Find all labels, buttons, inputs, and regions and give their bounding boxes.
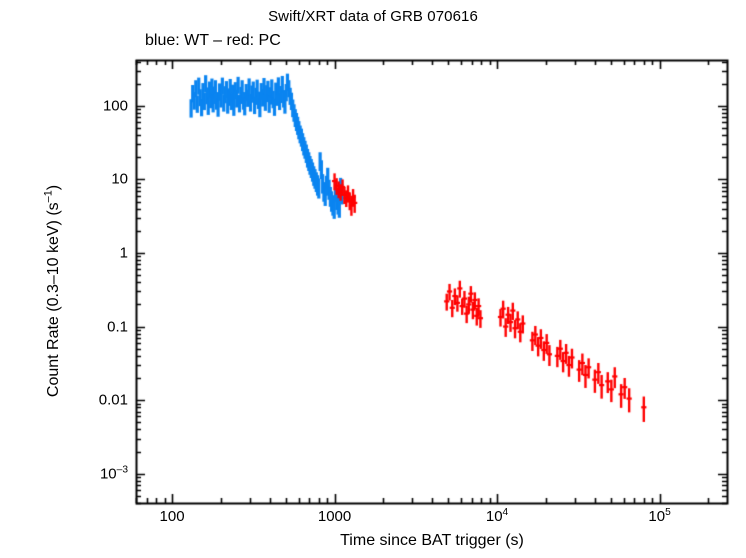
y-tick-label: 1 bbox=[56, 245, 128, 262]
x-tick-label: 100 bbox=[160, 508, 185, 525]
x-tick-label: 104 bbox=[486, 508, 508, 525]
x-tick-label: 1000 bbox=[318, 508, 351, 525]
y-axis-label: Count Rate (0.3–10 keV) (s–1) bbox=[45, 71, 63, 511]
y-tick-label: 100 bbox=[56, 97, 128, 114]
figure-root: Swift/XRT data of GRB 070616 blue: WT – … bbox=[0, 0, 746, 558]
y-tick-label: 0.1 bbox=[56, 318, 128, 335]
y-tick-label: 10–3 bbox=[56, 465, 128, 482]
y-tick-label: 0.01 bbox=[56, 392, 128, 409]
x-tick-label: 105 bbox=[648, 508, 670, 525]
y-tick-label: 10 bbox=[56, 171, 128, 188]
x-axis-label: Time since BAT trigger (s) bbox=[136, 532, 728, 550]
